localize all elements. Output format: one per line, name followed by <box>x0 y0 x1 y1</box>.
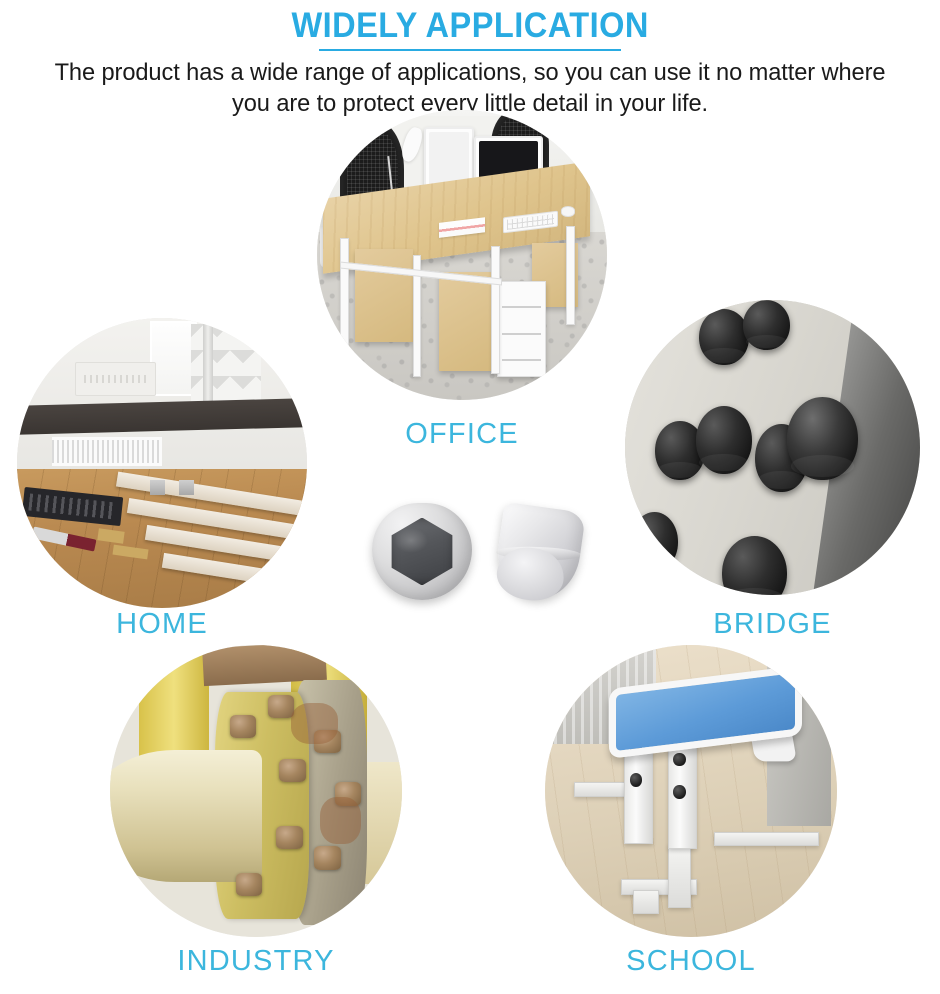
header: WIDELY APPLICATION The product has a wid… <box>0 0 940 119</box>
category-label-industry: INDUSTRY <box>110 947 402 976</box>
bolt-cap-icon <box>631 512 678 571</box>
category-label-home: HOME <box>17 610 307 639</box>
page-title: WIDELY APPLICATION <box>286 8 655 48</box>
bolt-icon <box>276 826 302 849</box>
bolt-cap-icon <box>787 397 858 480</box>
adjust-knob-icon <box>630 773 642 786</box>
category-label-bridge: BRIDGE <box>625 610 920 639</box>
adjust-knob-icon <box>673 785 685 798</box>
school-scene <box>545 645 837 937</box>
office-scene <box>317 110 607 400</box>
industry-scene <box>110 645 402 937</box>
category-image-school <box>545 645 837 937</box>
category-image-bridge <box>625 300 920 595</box>
bolt-cap-icon <box>743 300 790 350</box>
category-label-office: OFFICE <box>317 420 607 449</box>
title-underline <box>319 49 621 51</box>
bolt-icon <box>236 873 262 896</box>
category-image-industry <box>110 645 402 937</box>
bolt-icon <box>314 846 340 869</box>
product-cap-hex-socket-view <box>372 503 472 600</box>
category-label-school: SCHOOL <box>545 947 837 976</box>
air-conditioner-icon <box>75 362 156 397</box>
product-showcase <box>358 495 588 610</box>
radiator-icon <box>52 437 162 466</box>
adjust-knob-icon <box>673 753 685 766</box>
home-scene <box>17 318 307 608</box>
bolt-icon <box>279 759 305 782</box>
mouse-icon <box>561 206 576 218</box>
bolt-cap-icon <box>696 406 752 474</box>
bridge-scene <box>625 300 920 595</box>
bolt-cap-icon <box>699 309 749 365</box>
hex-socket-icon <box>389 518 455 586</box>
bolt-icon <box>268 695 294 718</box>
product-cap-side-profile-view <box>492 502 586 605</box>
category-image-home <box>17 318 307 608</box>
category-image-office <box>317 110 607 400</box>
infographic-page: WIDELY APPLICATION The product has a wid… <box>0 0 940 994</box>
bolt-icon <box>230 715 256 738</box>
